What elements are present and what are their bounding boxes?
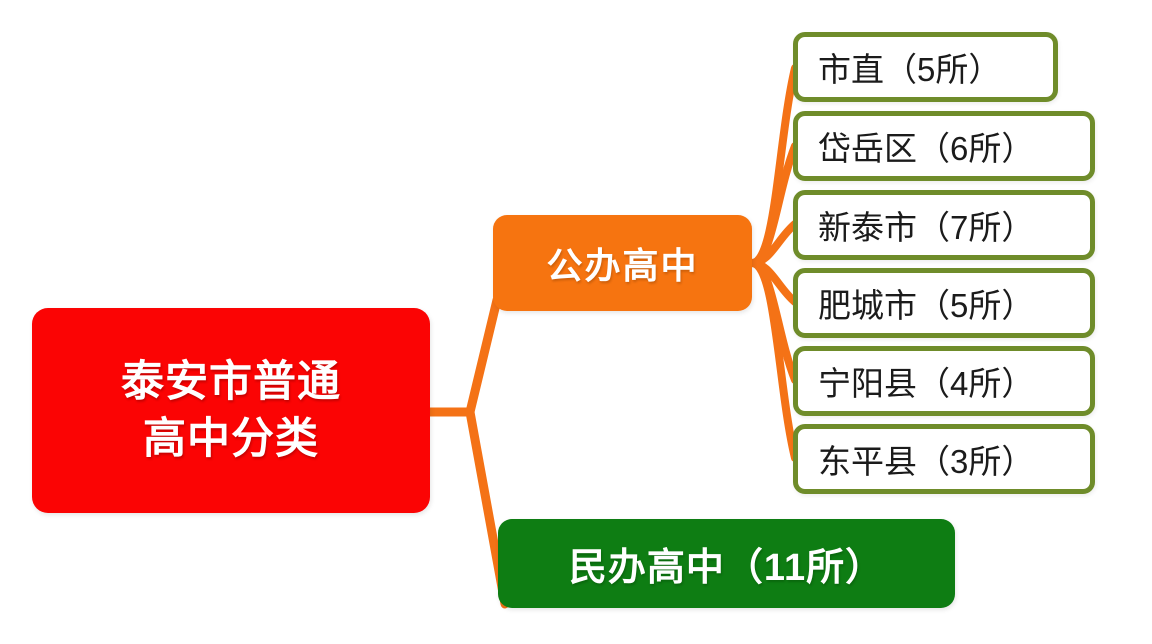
leaf-node-daiyue-label: 岱岳区（6所）	[798, 122, 1034, 170]
leaf-node-ningyang[interactable]: 宁阳县（4所）	[793, 346, 1095, 416]
leaf-node-dongping-label: 东平县（3所）	[798, 435, 1034, 483]
root-node-label: 泰安市普通 高中分类	[121, 354, 341, 468]
connector-public-to-leaf-1	[752, 68, 795, 263]
root-node-label-line2: 高中分类	[121, 411, 341, 468]
connector-root-to-public	[470, 300, 497, 412]
root-node-label-line1: 泰安市普通	[121, 354, 341, 411]
root-node[interactable]: 泰安市普通 高中分类	[32, 308, 430, 513]
branch-node-private[interactable]: 民办高中（11所）	[498, 519, 955, 608]
leaf-node-feicheng[interactable]: 肥城市（5所）	[793, 268, 1095, 338]
connector-public-to-leaf-6	[752, 263, 795, 458]
branch-node-private-label: 民办高中（11所）	[569, 536, 884, 591]
branch-node-public[interactable]: 公办高中	[493, 215, 752, 311]
leaf-node-shizhi-label: 市直（5所）	[798, 43, 1001, 91]
connector-public-to-leaf-4	[752, 263, 795, 302]
leaf-node-daiyue[interactable]: 岱岳区（6所）	[793, 111, 1095, 181]
branch-node-public-label: 公办高中	[546, 237, 698, 289]
leaf-node-shizhi[interactable]: 市直（5所）	[793, 32, 1058, 102]
leaf-node-xintai[interactable]: 新泰市（7所）	[793, 190, 1095, 260]
connector-public-to-leaf-2	[752, 146, 795, 263]
connector-public-to-leaf-5	[752, 263, 795, 380]
leaf-node-dongping[interactable]: 东平县（3所）	[793, 424, 1095, 494]
connector-public-to-leaf-3	[752, 224, 795, 263]
leaf-node-ningyang-label: 宁阳县（4所）	[798, 357, 1034, 405]
mindmap-canvas: 泰安市普通 高中分类 公办高中 民办高中（11所） 市直（5所） 岱岳区（6所）…	[0, 0, 1152, 644]
leaf-node-feicheng-label: 肥城市（5所）	[798, 279, 1034, 327]
leaf-node-xintai-label: 新泰市（7所）	[798, 201, 1034, 249]
